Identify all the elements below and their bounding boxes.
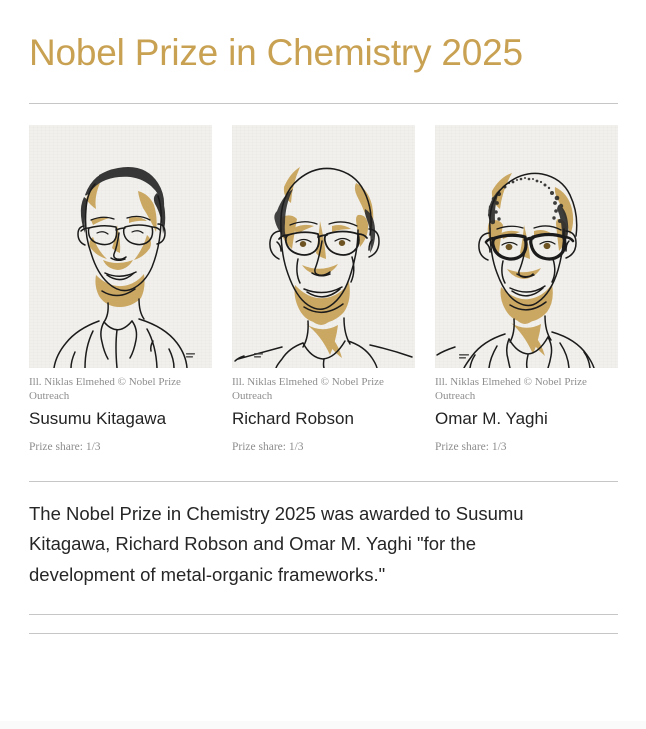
- portrait-credit: Ill. Niklas Elmehed © Nobel Prize Outrea…: [29, 375, 212, 404]
- prize-share: Prize share: 1/3: [232, 439, 415, 455]
- portrait-credit: Ill. Niklas Elmehed © Nobel Prize Outrea…: [435, 375, 618, 404]
- laureate-card-1[interactable]: Ill. Niklas Elmehed © Nobel Prize Outrea…: [29, 125, 212, 456]
- portrait-illustration-richard-robson[interactable]: [232, 125, 415, 368]
- prize-share: Prize share: 1/3: [435, 439, 618, 455]
- page-root: Nobel Prize in Chemistry 2025: [0, 0, 646, 729]
- divider-below-title: [29, 103, 618, 104]
- divider-below-summary: [29, 614, 618, 615]
- laureate-card-3[interactable]: Ill. Niklas Elmehed © Nobel Prize Outrea…: [435, 125, 618, 456]
- laureate-name[interactable]: Omar M. Yaghi: [435, 408, 618, 430]
- prize-share: Prize share: 1/3: [29, 439, 212, 455]
- divider-footer: [29, 633, 618, 634]
- portrait-illustration-susumu-kitagawa[interactable]: [29, 125, 212, 368]
- laureate-name[interactable]: Susumu Kitagawa: [29, 408, 212, 430]
- page-title: Nobel Prize in Chemistry 2025: [29, 0, 549, 77]
- laureate-list: Ill. Niklas Elmehed © Nobel Prize Outrea…: [29, 125, 618, 456]
- portrait-illustration-omar-m-yaghi[interactable]: [435, 125, 618, 368]
- content-column: Nobel Prize in Chemistry 2025: [29, 0, 618, 634]
- footer-band: [0, 721, 646, 729]
- laureate-name[interactable]: Richard Robson: [232, 408, 415, 430]
- summary-paragraph: The Nobel Prize in Chemistry 2025 was aw…: [29, 482, 585, 589]
- laureate-card-2[interactable]: Ill. Niklas Elmehed © Nobel Prize Outrea…: [232, 125, 415, 456]
- portrait-credit: Ill. Niklas Elmehed © Nobel Prize Outrea…: [232, 375, 415, 404]
